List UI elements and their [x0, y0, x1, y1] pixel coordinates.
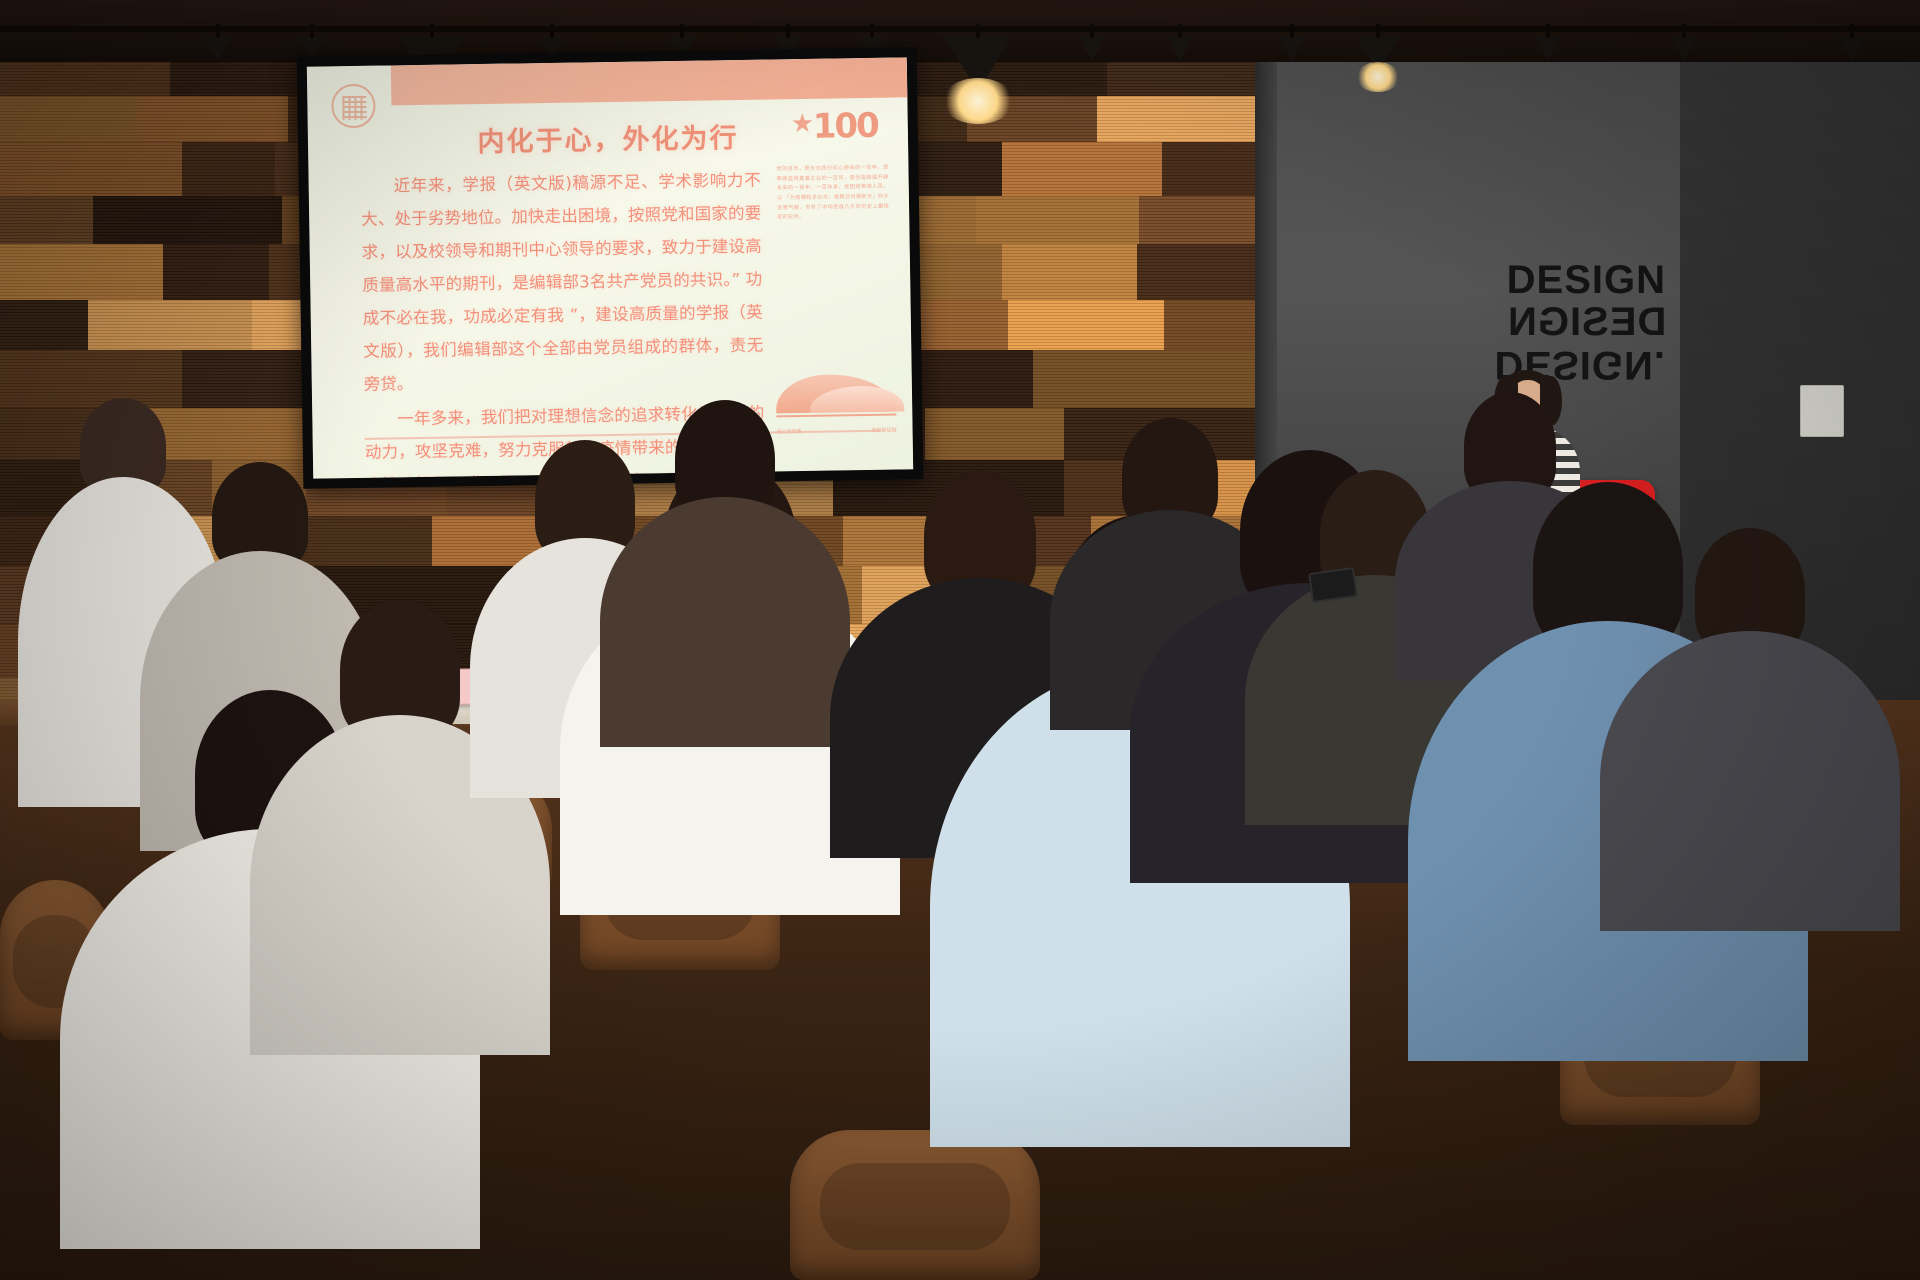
track-light [938, 24, 1018, 114]
wood-plank [0, 96, 137, 142]
wood-plank [88, 300, 252, 350]
wood-plank [1002, 244, 1137, 300]
lamp-stem [1290, 24, 1294, 38]
wood-plank [1139, 196, 1263, 244]
track-light [1508, 24, 1588, 114]
audience-body [1600, 631, 1900, 931]
lamp-stem [1546, 24, 1550, 38]
design-wall-text-2: DESIGN [1507, 300, 1666, 345]
wood-plank [0, 142, 182, 196]
lamp-shade [1166, 36, 1194, 60]
wood-plank [93, 196, 282, 244]
lamp-bulb [942, 78, 1014, 124]
track-light [1644, 24, 1724, 114]
slide-aside-text: 党的百年，是矢志践行初心使命的一百年，是筚路蓝缕奠基立业的一百年，是创造辉煌开辟… [776, 164, 889, 224]
lamp-shade [1534, 36, 1562, 60]
wood-plank [1002, 142, 1162, 196]
track-light [1252, 24, 1332, 114]
audience-member [600, 400, 850, 768]
cpc-100-logo-icon: ★ 100 [790, 106, 873, 153]
wood-plank [1033, 350, 1266, 408]
wood-plank [163, 244, 269, 300]
lamp-stem [430, 24, 434, 38]
lamp-stem [1178, 24, 1182, 38]
photo-scene: DESIGN DESIGN DESIGN. 内化于心，外化为行 近年来，学报（英… [0, 0, 1920, 1280]
smartphone[interactable] [1308, 567, 1358, 603]
lamp-stem [550, 24, 554, 38]
lamp-stem [1376, 24, 1380, 38]
lamp-stem [680, 24, 684, 38]
lamp-stem [976, 24, 980, 38]
wood-plank [182, 142, 275, 196]
track-light [178, 24, 258, 114]
lamp-shade [1670, 36, 1698, 60]
lamp-stem [1090, 24, 1094, 38]
wood-plank [976, 196, 1139, 244]
lamp-stem [786, 24, 790, 38]
lamp-stem [310, 24, 314, 38]
lamp-bulb [1356, 62, 1400, 92]
wood-plank [0, 196, 93, 244]
cpc-100-number: 100 [812, 106, 878, 147]
lamp-shade [1278, 36, 1306, 60]
audience-body [600, 497, 850, 747]
lamp-shade [1078, 36, 1106, 60]
lamp-stem [216, 24, 220, 38]
wall-switch-plate[interactable] [1800, 385, 1844, 437]
lamp-stem [1682, 24, 1686, 38]
slide-paragraph-1: 近年来，学报（英文版)稿源不足、学术影响力不大、处于劣势地位。加快走出困境，按照… [360, 164, 764, 401]
wood-plank [0, 300, 88, 350]
slide-top-bar [391, 57, 908, 105]
design-wall-text-1: DESIGN [1507, 258, 1666, 303]
lamp-shade [1838, 36, 1866, 60]
audience-member [1600, 528, 1900, 954]
track-light [1052, 24, 1132, 114]
track-light [1338, 24, 1418, 114]
slide-aside: ★ 100 党的百年，是矢志践行初心使命的一百年，是筚路蓝缕奠基立业的一百年，是… [775, 106, 889, 223]
track-light [1140, 24, 1220, 114]
lamp-shade [204, 36, 232, 60]
wood-plank [0, 244, 163, 300]
wood-plank [1008, 300, 1164, 350]
wood-plank [925, 408, 1064, 460]
lamp-stem [1850, 24, 1854, 38]
cpc-star-icon: ★ [791, 111, 815, 137]
lamp-stem [870, 24, 874, 38]
track-light [1812, 24, 1892, 114]
